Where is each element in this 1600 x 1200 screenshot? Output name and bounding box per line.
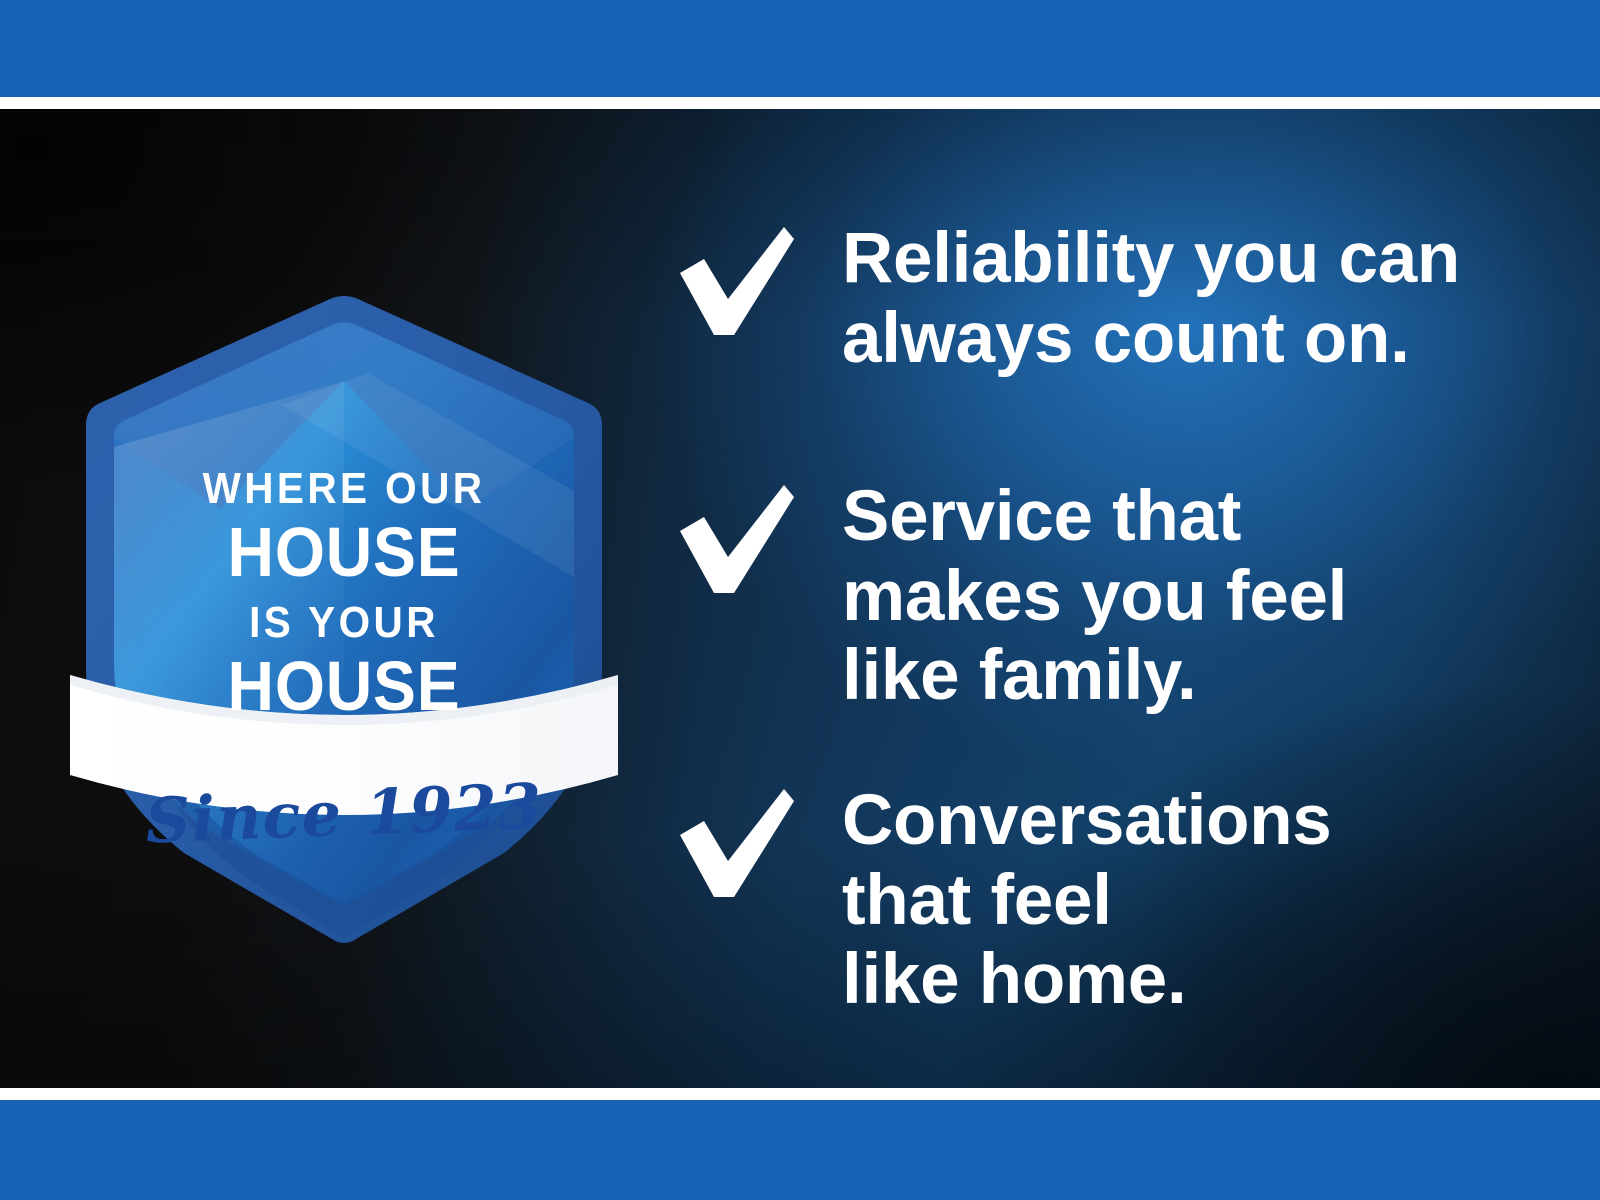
- benefit-text-2: Service that makes you feel like family.: [842, 477, 1347, 716]
- brand-bar-top-divider: [0, 97, 1600, 109]
- promo-banner: WHERE OUR HOUSE IS YOUR HOUSE Since 1923…: [0, 0, 1600, 1200]
- benefit-item-2: Service that makes you feel like family.: [672, 477, 1347, 716]
- checkmark-icon: [672, 787, 798, 899]
- shield-graphic: [68, 277, 620, 917]
- benefit-item-1: Reliability you can always count on.: [672, 219, 1460, 378]
- brand-bar-top: [0, 0, 1600, 97]
- brand-bar-bottom: [0, 1100, 1600, 1200]
- brand-bar-bottom-divider: [0, 1088, 1600, 1100]
- checkmark-icon: [672, 225, 798, 337]
- company-shield-badge: WHERE OUR HOUSE IS YOUR HOUSE Since 1923: [68, 277, 620, 917]
- benefit-text-3: Conversations that feel like home.: [842, 781, 1332, 1020]
- shield-sheen: [114, 381, 344, 906]
- benefit-text-1: Reliability you can always count on.: [842, 219, 1460, 378]
- checkmark-icon: [672, 483, 798, 595]
- benefits-list: Reliability you can always count on. Ser…: [672, 109, 1532, 1088]
- benefit-item-3: Conversations that feel like home.: [672, 781, 1332, 1020]
